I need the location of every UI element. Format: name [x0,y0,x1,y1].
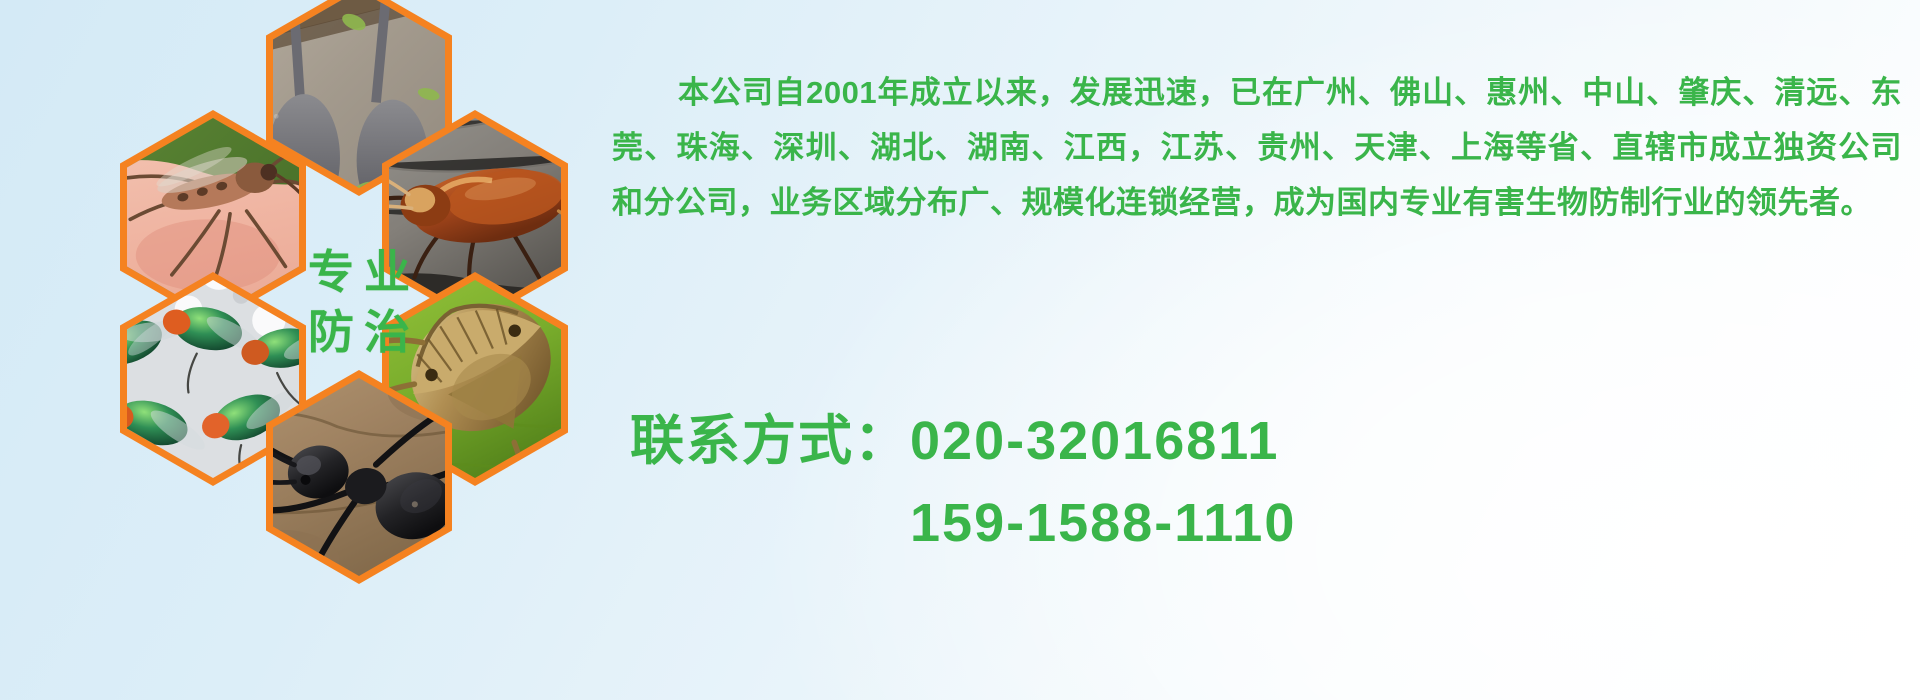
contact-secondary-line[interactable]: 159-1588-1110 [612,482,1902,564]
slogan-line-1: 专业 [298,249,420,295]
promo-banner: 专业 防治 本公司自2001年成立以来，发展迅速，已在广州、佛山、惠州、中山、肇… [0,0,1920,700]
honeycomb-collage: 专业 防治 [0,0,620,600]
banner-content: 本公司自2001年成立以来，发展迅速，已在广州、佛山、惠州、中山、肇庆、清远、东… [612,0,1920,700]
company-intro-paragraph: 本公司自2001年成立以来，发展迅速，已在广州、佛山、惠州、中山、肇庆、清远、东… [612,65,1902,230]
contact-primary-line[interactable]: 联系方式：020-32016811 [612,400,1902,482]
contact-block: 联系方式：020-32016811 159-1588-1110 [612,400,1902,564]
honeycomb-slogan: 专业 防治 [266,195,452,409]
slogan-line-2: 防治 [298,309,420,355]
